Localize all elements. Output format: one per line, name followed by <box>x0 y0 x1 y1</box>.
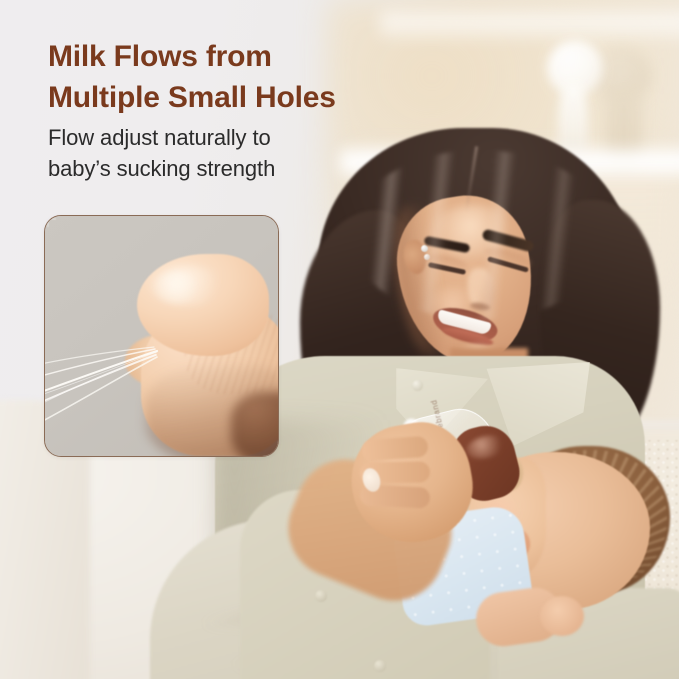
baby-hand <box>540 596 584 636</box>
headline: Milk Flows from Multiple Small Holes <box>48 37 448 119</box>
background-upper-shelf <box>380 12 679 38</box>
nipple-macro-inset <box>44 215 279 457</box>
subheadline-line-2: baby’s sucking strength <box>48 153 408 184</box>
inset-milk-streams <box>45 216 278 456</box>
headline-line-1: Milk Flows from <box>48 37 448 78</box>
mother-shirt-button-top <box>412 380 423 391</box>
subheadline-line-1: Flow adjust naturally to <box>48 122 408 153</box>
inset-corner-glare <box>44 215 56 227</box>
mother-shirt-button-bottom <box>374 660 386 672</box>
infographic-canvas: bebebrand Milk Flows from Multiple Small… <box>0 0 679 679</box>
mother-shirt-button-middle <box>315 590 327 602</box>
headline-line-2: Multiple Small Holes <box>48 78 448 119</box>
subheadline: Flow adjust naturally to baby’s sucking … <box>48 122 408 184</box>
